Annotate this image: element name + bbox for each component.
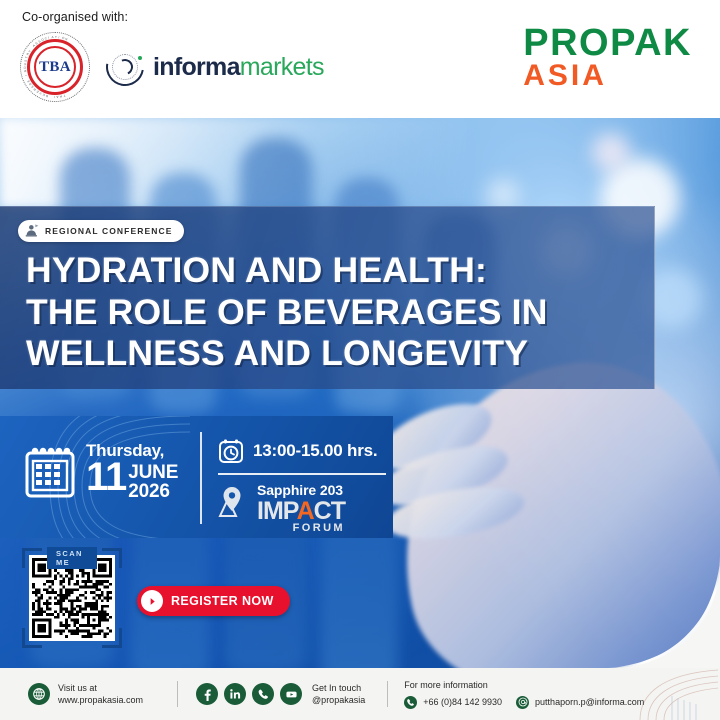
- qr-code-block[interactable]: SCAN ME: [22, 548, 122, 648]
- footer-social-text: Get In touch @propakasia: [312, 682, 365, 706]
- co-organised-label: Co-organised with:: [22, 10, 128, 24]
- asia-text: ASIA: [523, 62, 692, 90]
- title-line-1: HYDRATION AND HEALTH:: [26, 250, 548, 292]
- tba-logo: THAI BEVERAGE INDUSTRY ASSOCIATION TBA: [18, 30, 92, 104]
- event-venue: Sapphire 203 IMPACT FORUM: [214, 482, 345, 534]
- time-value: 13:00-15.00 hrs.: [253, 441, 377, 461]
- calendar-icon: [22, 444, 78, 500]
- venue-text: Sapphire 203 IMPACT FORUM: [257, 482, 345, 534]
- tba-initials: TBA: [39, 59, 71, 76]
- footer-website-text: Visit us at www.propakasia.com: [58, 682, 143, 706]
- informa-word-2: markets: [240, 53, 324, 81]
- date-year: 2026: [128, 482, 178, 501]
- register-now-button[interactable]: REGISTER NOW: [137, 586, 290, 616]
- linkedin-icon[interactable]: [224, 683, 246, 705]
- phone-icon[interactable]: [252, 683, 274, 705]
- clock-icon: [218, 438, 244, 464]
- footer-divider: [387, 681, 388, 707]
- footer-website-line1: Visit us at: [58, 683, 97, 693]
- tba-core: TBA: [39, 51, 71, 83]
- footer-contact[interactable]: For more information +66 (0)84 142 9930 …: [404, 679, 644, 708]
- bokeh-light: [592, 133, 630, 171]
- venue-room: Sapphire 203: [257, 482, 345, 498]
- page-title: HYDRATION AND HEALTH: THE ROLE OF BEVERA…: [26, 250, 548, 375]
- footer-content: Visit us at www.propakasia.com: [0, 668, 720, 720]
- date-day: 11: [86, 461, 126, 494]
- globe-icon: [28, 683, 50, 705]
- email-icon: [516, 696, 529, 709]
- event-date: Thursday, 11 JUNE 2026: [22, 442, 178, 501]
- title-line-2: THE ROLE OF BEVERAGES IN: [26, 292, 548, 334]
- event-details-panel: Thursday, 11 JUNE 2026 13:00-15.: [0, 416, 393, 538]
- event-poster: Co-organised with: THAI BEVERAGE INDUSTR…: [0, 0, 720, 720]
- informa-wordmark: informamarkets: [153, 55, 324, 80]
- propak-asia-logo: PROPAK ASIA: [523, 26, 692, 90]
- informa-swirl-icon: [106, 48, 144, 86]
- regional-conference-badge: REGIONAL CONFERENCE: [18, 220, 184, 242]
- register-now-label: REGISTER NOW: [171, 594, 274, 608]
- badge-label: REGIONAL CONFERENCE: [45, 226, 172, 236]
- horizontal-divider: [218, 473, 386, 475]
- event-time: 13:00-15.00 hrs.: [218, 438, 377, 464]
- social-icon-row[interactable]: [196, 683, 302, 705]
- speaker-presenter-icon: [24, 223, 40, 239]
- vertical-divider: [200, 432, 202, 524]
- footer-website[interactable]: Visit us at www.propakasia.com: [28, 682, 143, 706]
- footer-email[interactable]: putthaporn.p@informa.com: [535, 696, 644, 708]
- poster-footer: Visit us at www.propakasia.com: [0, 668, 720, 720]
- page-curl-effect: [608, 556, 720, 668]
- poster-header: Co-organised with: THAI BEVERAGE INDUSTR…: [0, 0, 720, 118]
- facebook-icon[interactable]: [196, 683, 218, 705]
- footer-social[interactable]: Get In touch @propakasia: [196, 682, 365, 706]
- impact-accent-letter: A: [297, 497, 314, 525]
- informa-markets-logo: informamarkets: [106, 48, 324, 86]
- impact-part-2: CT: [314, 497, 345, 525]
- partner-logos: THAI BEVERAGE INDUSTRY ASSOCIATION TBA i…: [18, 30, 324, 104]
- impact-forum-logo: IMPACT FORUM: [257, 499, 345, 534]
- footer-social-line2: @propakasia: [312, 695, 365, 705]
- title-line-3: WELLNESS AND LONGEVITY: [26, 333, 548, 375]
- footer-social-line1: Get In touch: [312, 683, 361, 693]
- impact-part-1: IMP: [257, 497, 297, 525]
- footer-divider: [177, 681, 178, 707]
- footer-website-line2: www.propakasia.com: [58, 695, 143, 705]
- phone-icon: [404, 696, 417, 709]
- propak-text: PROPAK: [523, 26, 692, 62]
- informa-word-1: informa: [153, 53, 240, 81]
- footer-phone[interactable]: +66 (0)84 142 9930: [423, 696, 502, 708]
- youtube-icon[interactable]: [280, 683, 302, 705]
- date-text: Thursday, 11 JUNE 2026: [86, 442, 178, 501]
- footer-contact-heading: For more information: [404, 679, 644, 691]
- location-pin-icon: [214, 484, 250, 520]
- date-month: JUNE: [128, 463, 178, 482]
- arrow-right-icon: [141, 590, 163, 612]
- scan-me-label: SCAN ME: [47, 547, 97, 569]
